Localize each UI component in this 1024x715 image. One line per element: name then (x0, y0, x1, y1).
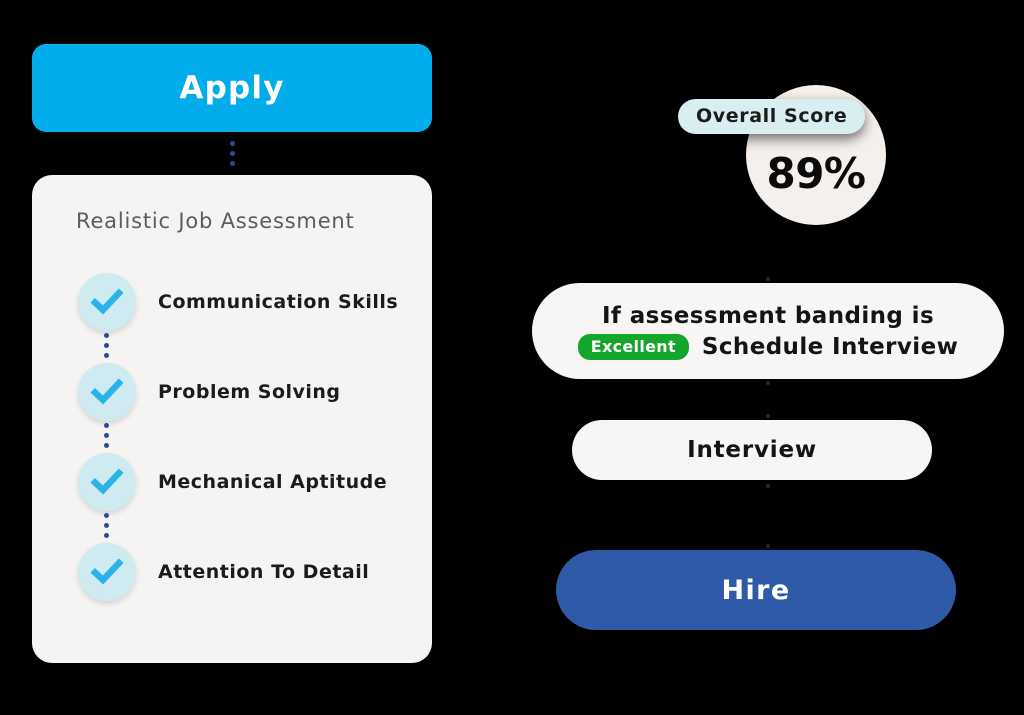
connector-dot (104, 343, 109, 348)
connector-dot (104, 423, 109, 428)
connector-dot (104, 513, 109, 518)
check-icon (78, 273, 136, 331)
check-icon (78, 453, 136, 511)
overall-score-pill-label: Overall Score (696, 105, 847, 127)
connector-dot (230, 161, 235, 166)
apply-to-assessment-connector (32, 141, 432, 166)
overall-score-group: 89% Overall Score (678, 85, 918, 225)
assessment-banding-card[interactable]: If assessment banding is Excellent Sched… (532, 283, 1004, 379)
connector-dot (104, 333, 109, 338)
overall-score-value: 89% (766, 149, 865, 198)
banding-action-row: Excellent Schedule Interview (578, 334, 958, 360)
list-connector (104, 513, 432, 541)
flow-connector-dot (766, 544, 770, 548)
apply-button[interactable]: Apply (32, 44, 432, 132)
list-item-label: Problem Solving (158, 381, 341, 403)
connector-dot (230, 151, 235, 156)
hire-button-label: Hire (721, 575, 790, 606)
list-item[interactable]: Problem Solving (78, 361, 432, 423)
overall-score-pill: Overall Score (678, 99, 865, 134)
list-item[interactable]: Communication Skills (78, 271, 432, 333)
check-icon (78, 543, 136, 601)
connector-dot (104, 443, 109, 448)
assessment-column: Apply Realistic Job Assessment Communica… (32, 44, 432, 663)
list-connector (104, 333, 432, 361)
hiring-flow-diagram: Apply Realistic Job Assessment Communica… (0, 0, 1024, 715)
connector-dot (104, 433, 109, 438)
assessment-card-title: Realistic Job Assessment (32, 209, 432, 233)
banding-condition-text: If assessment banding is (602, 303, 934, 329)
list-connector (104, 423, 432, 451)
list-item-label: Communication Skills (158, 291, 398, 313)
list-item-label: Attention To Detail (158, 561, 369, 583)
connector-dot (104, 533, 109, 538)
interview-card-label: Interview (687, 437, 817, 463)
flow-connector-dot (766, 277, 770, 281)
flow-connector-dot (766, 484, 770, 488)
banding-action-text: Schedule Interview (702, 334, 958, 360)
hire-button[interactable]: Hire (556, 550, 956, 630)
flow-connector-dot (766, 381, 770, 385)
list-item-label: Mechanical Aptitude (158, 471, 387, 493)
connector-dot (104, 523, 109, 528)
assessment-checklist: Communication Skills Problem Solving (32, 271, 432, 603)
assessment-card: Realistic Job Assessment Communication S… (32, 175, 432, 663)
apply-button-label: Apply (179, 70, 284, 106)
interview-card[interactable]: Interview (572, 420, 932, 480)
list-item[interactable]: Attention To Detail (78, 541, 432, 603)
outcome-column: 89% Overall Score If assessment banding … (512, 0, 1024, 715)
check-icon (78, 363, 136, 421)
list-item[interactable]: Mechanical Aptitude (78, 451, 432, 513)
connector-dot (104, 353, 109, 358)
connector-dot (230, 141, 235, 146)
flow-connector-dot (766, 414, 770, 418)
status-badge: Excellent (578, 334, 689, 360)
